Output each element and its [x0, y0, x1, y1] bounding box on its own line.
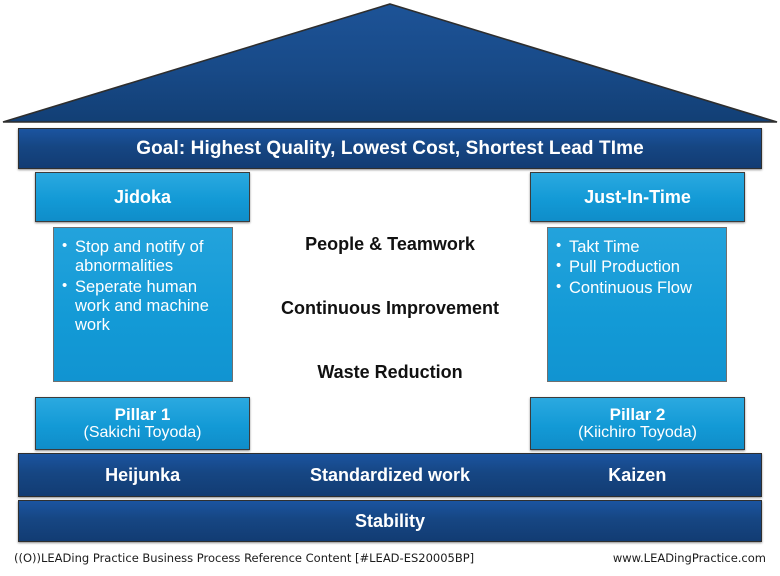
center-text-continuous-improvement: Continuous Improvement: [252, 298, 528, 319]
center-text-people-teamwork: People & Teamwork: [252, 234, 528, 255]
right-pillar-footer: Pillar 2 (Kiichiro Toyoda): [530, 397, 745, 450]
foundation-cell-standardized-work: Standardized work: [266, 465, 513, 486]
center-column: People & Teamwork Continuous Improvement…: [252, 172, 528, 450]
roof-shape: [0, 0, 780, 126]
goal-bar: Goal: Highest Quality, Lowest Cost, Shor…: [18, 128, 762, 169]
footer-website: www.LEADingPractice.com: [613, 551, 766, 565]
lean-house-diagram: Goal: Highest Quality, Lowest Cost, Shor…: [0, 0, 780, 576]
center-text-waste-reduction: Waste Reduction: [252, 362, 528, 383]
left-pillar-footer: Pillar 1 (Sakichi Toyoda): [35, 397, 250, 450]
foundation-cell-heijunka: Heijunka: [19, 465, 266, 486]
right-pillar-title: Pillar 2: [610, 405, 666, 424]
right-pillar-subtitle: (Kiichiro Toyoda): [578, 424, 697, 442]
list-item: Seperate human work and machine work: [62, 278, 224, 336]
footer: ((O))LEADing Practice Business Process R…: [0, 547, 780, 569]
left-pillar-title: Pillar 1: [115, 405, 171, 424]
list-item: Takt Time: [556, 238, 718, 257]
right-pillar-bullets: Takt Time Pull Production Continuous Flo…: [547, 227, 727, 382]
left-pillar-bullets: Stop and notify of abnormalities Seperat…: [53, 227, 233, 382]
list-item: Pull Production: [556, 258, 718, 277]
list-item: Continuous Flow: [556, 279, 718, 298]
base-bar-stability: Stability: [18, 500, 762, 542]
right-pillar-header: Just-In-Time: [530, 172, 745, 222]
foundation-row: Heijunka Standardized work Kaizen: [18, 453, 762, 497]
left-pillar-subtitle: (Sakichi Toyoda): [84, 424, 202, 442]
list-item: Stop and notify of abnormalities: [62, 238, 224, 277]
left-pillar-header: Jidoka: [35, 172, 250, 222]
footer-attribution: ((O))LEADing Practice Business Process R…: [14, 551, 474, 565]
foundation-cell-kaizen: Kaizen: [514, 465, 761, 486]
